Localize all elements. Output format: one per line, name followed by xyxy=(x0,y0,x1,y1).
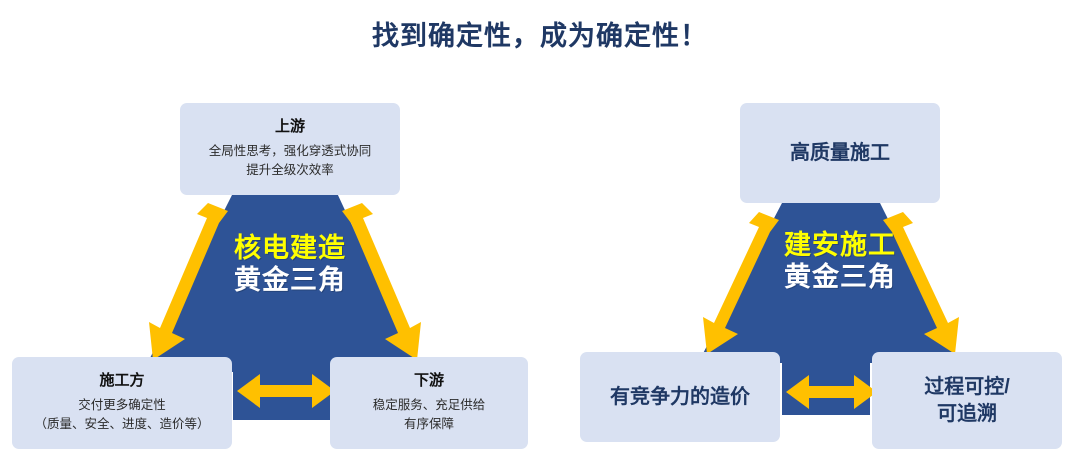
node-line-upstream-2: 提升全级次效率 xyxy=(246,161,334,180)
node-line-downstream-1: 稳定服务、充足供给 xyxy=(373,396,486,415)
node-box-quality[interactable]: 高质量施工 xyxy=(740,103,940,203)
node-box-downstream[interactable]: 下游 稳定服务、充足供给 有序保障 xyxy=(330,357,528,449)
node-box-cost[interactable]: 有竞争力的造价 xyxy=(580,352,780,442)
node-box-contractor[interactable]: 施工方 交付更多确定性 （质量、安全、进度、造价等） xyxy=(12,357,232,449)
node-title-upstream: 上游 xyxy=(275,118,305,137)
node-title-downstream: 下游 xyxy=(414,372,444,391)
page-title: 找到确定性，成为确定性！ xyxy=(0,14,1080,53)
node-title-cost: 有竞争力的造价 xyxy=(610,384,750,411)
node-title-contractor: 施工方 xyxy=(99,372,144,391)
golden-triangle-diagram-right: 建安施工 黄金三角 高质量施工 有竞争力的造价 过程可控/ 可追溯 xyxy=(560,90,1080,449)
node-line-downstream-2: 有序保障 xyxy=(404,415,454,434)
node-title-traceability: 过程可控/ 可追溯 xyxy=(924,374,1010,428)
node-box-traceability[interactable]: 过程可控/ 可追溯 xyxy=(872,352,1062,449)
node-line-contractor-1: 交付更多确定性 xyxy=(78,396,166,415)
node-box-upstream[interactable]: 上游 全局性思考，强化穿透式协同 提升全级次效率 xyxy=(180,103,400,195)
node-title-quality: 高质量施工 xyxy=(790,140,890,167)
node-line-upstream-1: 全局性思考，强化穿透式协同 xyxy=(209,142,372,161)
node-line-contractor-2: （质量、安全、进度、造价等） xyxy=(34,415,209,434)
golden-triangle-diagram-left: 核电建造 黄金三角 上游 全局性思考，强化穿透式协同 提升全级次效率 施工方 交… xyxy=(0,90,560,449)
